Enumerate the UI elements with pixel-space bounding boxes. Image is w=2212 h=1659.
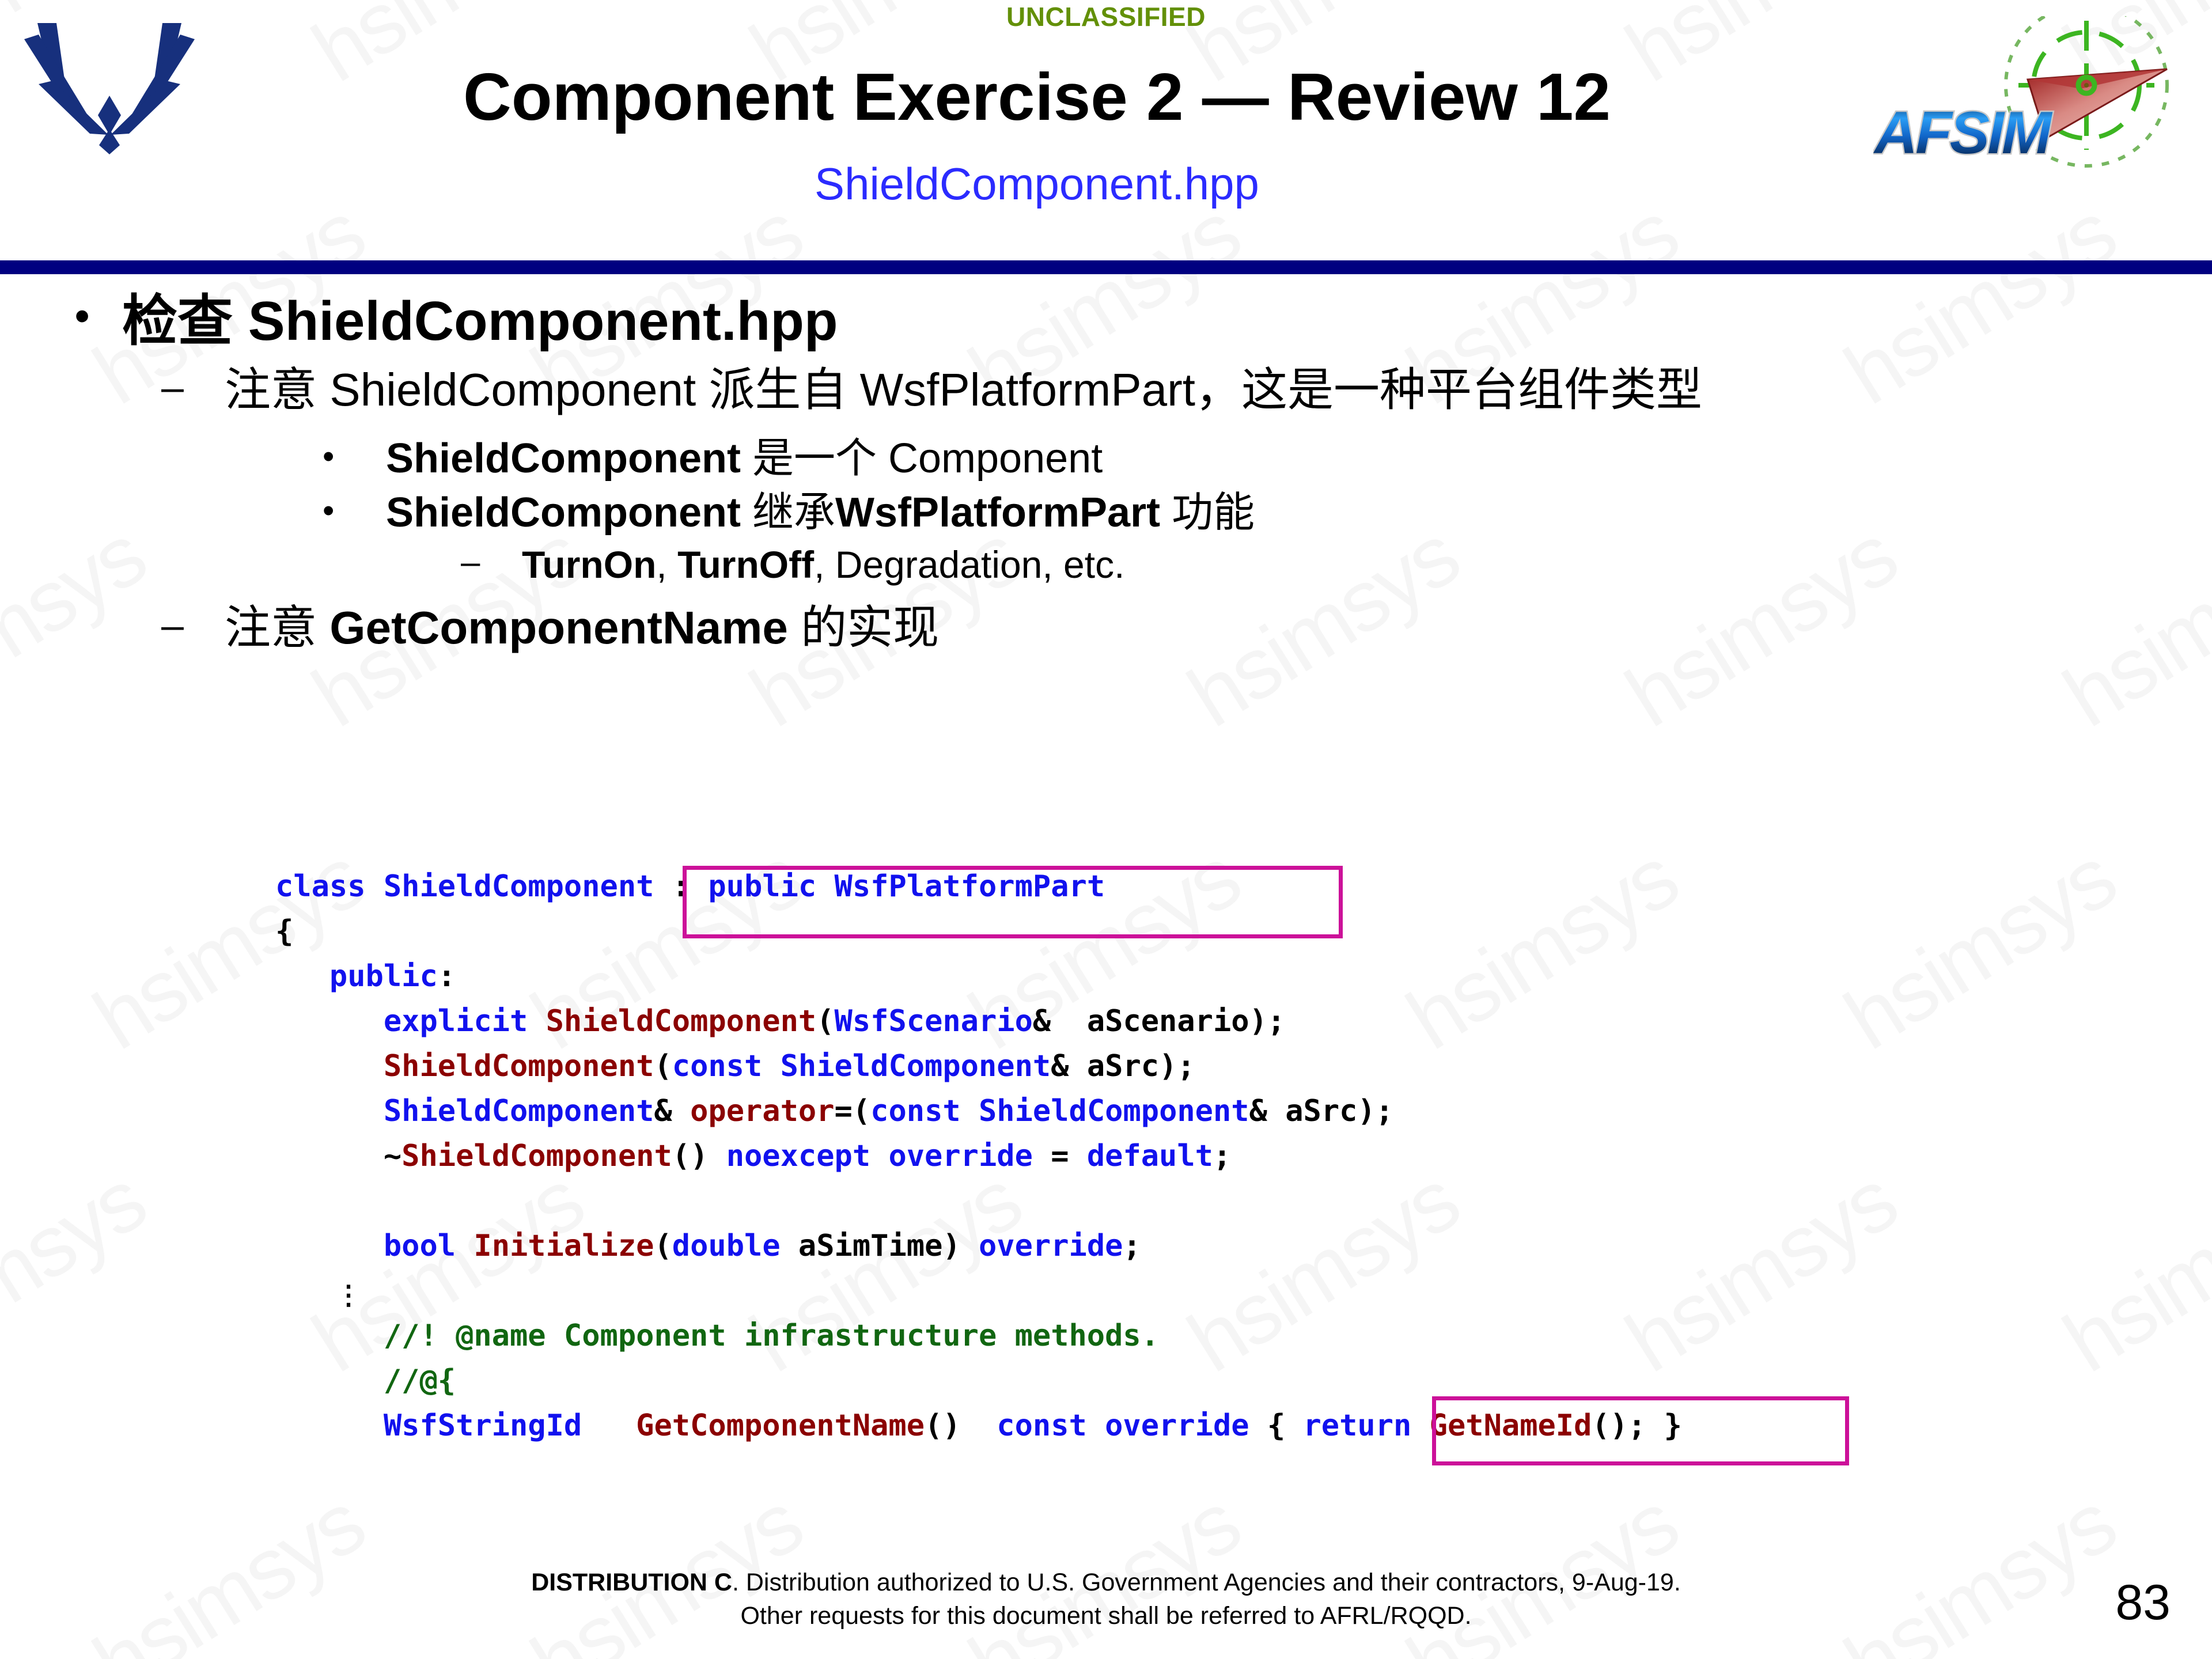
watermark-text: hsimsys: [1828, 828, 2131, 1069]
code-token: WsfScenario: [835, 1004, 1033, 1039]
bullet-level1-inspect: • 检查 ShieldComponent.hpp: [75, 290, 2212, 353]
code-token: const ShieldComponent: [870, 1094, 1249, 1128]
code-token: [275, 1408, 384, 1443]
code-line: [275, 1179, 1682, 1224]
code-token: [275, 1049, 384, 1084]
code-token: [275, 1094, 384, 1128]
code-token: bool: [384, 1229, 474, 1263]
code-line: //! @name Component infrastructure metho…: [275, 1313, 1682, 1358]
page-title: Component Exercise 2 — Review 12: [242, 63, 1832, 130]
code-token: class: [275, 869, 384, 904]
code-token: const override: [997, 1408, 1249, 1443]
bullet-text-plain-1: ,: [656, 543, 677, 586]
code-token: :: [438, 959, 456, 994]
code-token: public WsfPlatformPart: [708, 869, 1105, 904]
page-subtitle: ShieldComponent.hpp: [242, 161, 1832, 206]
code-token: (: [654, 1229, 672, 1263]
header-divider: [0, 260, 2212, 274]
bullet-text-bold: ShieldComponent.hpp: [248, 290, 838, 352]
code-token: double: [672, 1229, 781, 1263]
code-token: Initialize: [474, 1229, 654, 1263]
code-token: {: [1249, 1408, 1304, 1443]
bullet-text-plain: 检查: [122, 290, 248, 352]
bullet-text: 检查 ShieldComponent.hpp: [122, 290, 2212, 353]
bullet-marker: •: [75, 290, 122, 342]
bullet-marker: •: [323, 435, 386, 478]
code-block: class ShieldComponent : public WsfPlatfo…: [275, 864, 1682, 1448]
code-token: GetComponentName: [636, 1408, 925, 1443]
code-token: ShieldComponent: [546, 1004, 817, 1039]
code-line: explicit ShieldComponent(WsfScenario& aS…: [275, 999, 1682, 1044]
code-token: default: [1087, 1139, 1213, 1173]
code-token: & aScenario);: [1033, 1004, 1285, 1039]
code-token: [275, 1274, 293, 1308]
slide-number: 83: [2115, 1574, 2171, 1631]
bullet-text-bold-1: ShieldComponent: [386, 490, 741, 536]
code-token: [275, 959, 329, 994]
bullet-marker: –: [161, 602, 225, 649]
code-token: WsfStringId: [384, 1408, 582, 1443]
bullet-text-bold-2: TurnOff: [677, 543, 814, 586]
code-token: (: [654, 1049, 672, 1084]
code-token: //@{: [384, 1363, 456, 1398]
bullet-text-plain-1: 继承: [741, 490, 835, 536]
svg-text:AFSIM: AFSIM: [1873, 100, 2053, 166]
code-line: [275, 1268, 1682, 1313]
code-line: //@{: [275, 1358, 1682, 1403]
code-token: (: [816, 1004, 834, 1039]
bullet-text-bold: ShieldComponent: [386, 435, 741, 482]
slide-body: • 检查 ShieldComponent.hpp – 注意 ShieldComp…: [0, 283, 2212, 653]
bullet-level2-getcomponentname: – 注意 GetComponentName 的实现: [161, 602, 2137, 654]
code-token: }: [1664, 1408, 1682, 1443]
code-token: [275, 1363, 384, 1398]
bullet-level4-methods: – TurnOn, TurnOff, Degradation, etc.: [461, 543, 2212, 586]
distribution-label: DISTRIBUTION C: [531, 1569, 732, 1596]
code-token: {: [275, 914, 293, 949]
code-token: ShieldComponent: [384, 869, 654, 904]
code-token: &: [654, 1094, 690, 1128]
code-token: noexcept override: [726, 1139, 1033, 1173]
code-token: ShieldComponent: [402, 1139, 672, 1173]
code-token: & aSrc);: [1249, 1094, 1393, 1128]
bullet-text: 注意 ShieldComponent 派生自 WsfPlatformPart，这…: [225, 364, 2137, 416]
bullet-text: 注意 GetComponentName 的实现: [225, 602, 2137, 654]
code-token: ShieldComponent: [384, 1094, 654, 1128]
afsim-logo: AFSIM: [1873, 16, 2207, 172]
bullet-text-plain-2: 功能: [1160, 490, 1255, 536]
code-line: ShieldComponent& operator=(const ShieldC…: [275, 1089, 1682, 1134]
distribution-text: . Distribution authorized to U.S. Govern…: [732, 1569, 1681, 1596]
code-token: ;: [1123, 1229, 1141, 1263]
footer: DISTRIBUTION C. Distribution authorized …: [0, 1566, 2212, 1633]
code-token: [582, 1408, 636, 1443]
code-token: [275, 1229, 384, 1263]
watermark-text: hsimsys: [0, 1150, 162, 1392]
code-line: WsfStringId GetComponentName() const ove…: [275, 1403, 1682, 1448]
code-token: public: [329, 959, 438, 994]
bullet-marker: •: [323, 489, 386, 532]
code-token: & aSrc);: [1051, 1049, 1195, 1084]
code-token: const ShieldComponent: [672, 1049, 1051, 1084]
code-token: :: [654, 869, 708, 904]
watermark-text: hsimsys: [2047, 1150, 2212, 1392]
bullet-marker: –: [461, 543, 522, 581]
bullet-text: ShieldComponent 是一个 Component: [386, 435, 2212, 482]
bullet-marker: –: [161, 364, 225, 411]
code-token: [275, 1004, 384, 1039]
code-token: aSimTime): [781, 1229, 979, 1263]
code-token: (): [672, 1139, 726, 1173]
footer-line-2: Other requests for this document shall b…: [0, 1599, 2212, 1633]
footer-line-1: DISTRIBUTION C. Distribution authorized …: [0, 1566, 2212, 1599]
code-line: ShieldComponent(const ShieldComponent& a…: [275, 1044, 1682, 1089]
bullet-text-plain: 是一个 Component: [741, 435, 1103, 482]
code-ellipsis-vertical: ⋮: [335, 1283, 362, 1307]
bullet-text-plain-2: 的实现: [788, 602, 939, 653]
code-line: class ShieldComponent : public WsfPlatfo…: [275, 864, 1682, 909]
code-token: ~: [275, 1139, 402, 1173]
code-token: =: [1033, 1139, 1087, 1173]
code-token: GetNameId: [1430, 1408, 1592, 1443]
code-token: [275, 1319, 384, 1353]
code-token: operator: [690, 1094, 834, 1128]
code-token: explicit: [384, 1004, 546, 1039]
bullet-text: TurnOn, TurnOff, Degradation, etc.: [522, 543, 2212, 586]
bullet-text-plain-1: 注意: [225, 602, 329, 653]
bullet-level3-inherits: • ShieldComponent 继承WsfPlatformPart 功能: [323, 489, 2212, 536]
code-token: override: [979, 1229, 1123, 1263]
bullet-text-bold-1: TurnOn: [522, 543, 656, 586]
code-token: ();: [1592, 1408, 1664, 1443]
bullet-level2-derives: – 注意 ShieldComponent 派生自 WsfPlatformPart…: [161, 364, 2137, 416]
code-token: =(: [835, 1094, 871, 1128]
code-token: return: [1304, 1408, 1430, 1443]
code-token: (): [925, 1408, 997, 1443]
air-force-logo: [12, 16, 207, 154]
code-token: ;: [1213, 1139, 1231, 1173]
code-line: bool Initialize(double aSimTime) overrid…: [275, 1224, 1682, 1268]
bullet-text: ShieldComponent 继承WsfPlatformPart 功能: [386, 489, 2212, 536]
code-line: {: [275, 909, 1682, 954]
code-token: //! @name Component infrastructure metho…: [384, 1319, 1159, 1353]
bullet-level3-isa: • ShieldComponent 是一个 Component: [323, 435, 2212, 482]
bullet-text-bold-2: WsfPlatformPart: [835, 490, 1160, 536]
bullet-text-bold: GetComponentName: [329, 602, 788, 653]
code-token: ShieldComponent: [384, 1049, 654, 1084]
code-token: [275, 1184, 293, 1218]
code-line: ~ShieldComponent() noexcept override = d…: [275, 1134, 1682, 1179]
code-line: public:: [275, 954, 1682, 999]
bullet-text-plain-2: , Degradation, etc.: [814, 543, 1124, 586]
